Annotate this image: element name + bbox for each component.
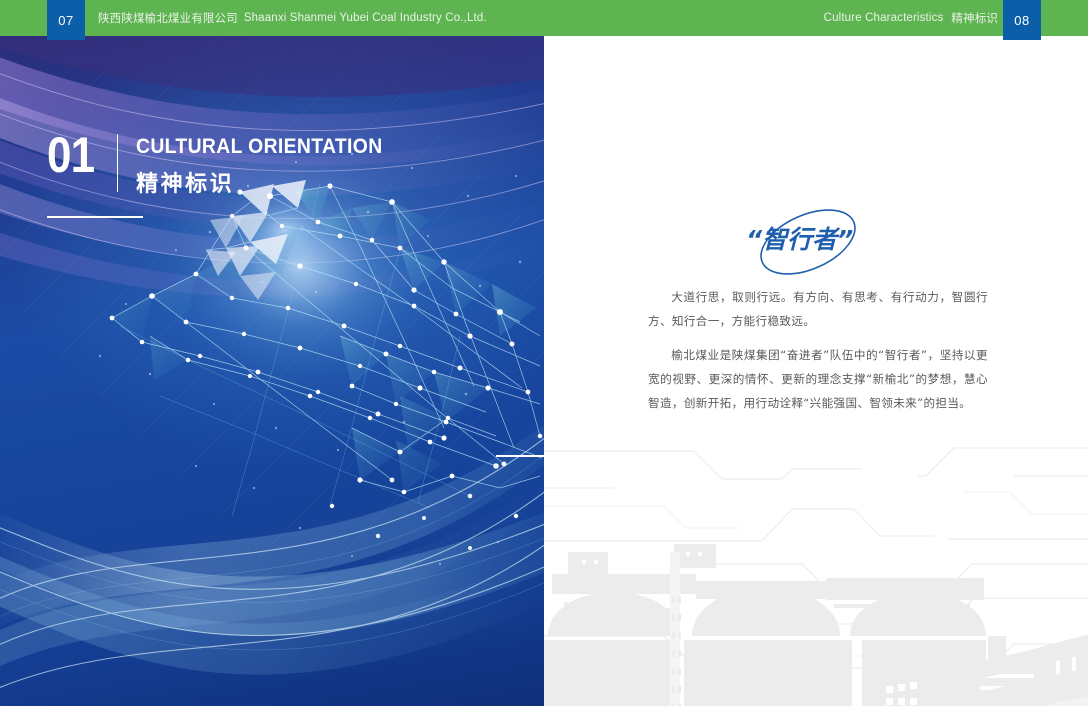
header-company-name-en: Shaanxi Shanmei Yubei Coal Industry Co.,… [244, 12, 487, 24]
header-section-label-en: Culture Characteristics [824, 12, 944, 24]
brochure-spread: 07 陕西陕煤榆北煤业有限公司 Shaanxi Shanmei Yubei Co… [0, 0, 1088, 706]
header-company-name-cn: 陕西陕煤榆北煤业有限公司 [98, 10, 238, 26]
section-title-cn: 精神标识 [136, 166, 410, 198]
page-number-left: 07 [47, 0, 85, 40]
logo-text: “智行者” [746, 220, 853, 256]
paragraph-2: 榆北煤业是陕煤集团“奋进者”队伍中的“智行者”，坚持以更宽的视野、更深的情怀、更… [648, 344, 988, 416]
page-number-left-value: 07 [58, 13, 73, 28]
left-page: 01 CULTURAL ORIENTATION 精神标识 [0, 36, 544, 706]
section-title-block: 01 CULTURAL ORIENTATION 精神标识 [47, 132, 410, 198]
title-divider-rule [117, 134, 119, 192]
header-section-label-cn: 精神标识 [951, 10, 998, 26]
page-number-right-value: 08 [1014, 13, 1029, 28]
left-page-rule [496, 455, 544, 457]
zhixingzhe-logo: “智行者” [740, 202, 880, 282]
section-number: 01 [47, 132, 98, 178]
header-company-name: 陕西陕煤榆北煤业有限公司 Shaanxi Shanmei Yubei Coal … [98, 0, 487, 36]
paragraph-1: 大道行思，取则行远。有方向、有思考、有行动力，智圆行方、知行合一，方能行稳致远。 [648, 286, 988, 334]
body-copy: 大道行思，取则行远。有方向、有思考、有行动力，智圆行方、知行合一，方能行稳致远。… [648, 286, 988, 416]
title-underline [47, 216, 143, 218]
page-number-right: 08 [1003, 0, 1041, 40]
right-page: “智行者” 大道行思，取则行远。有方向、有思考、有行动力，智圆行方、知行合一，方… [544, 36, 1088, 706]
section-title-en: CULTURAL ORIENTATION [136, 134, 383, 159]
header-section-label: Culture Characteristics 精神标识 [824, 0, 998, 36]
